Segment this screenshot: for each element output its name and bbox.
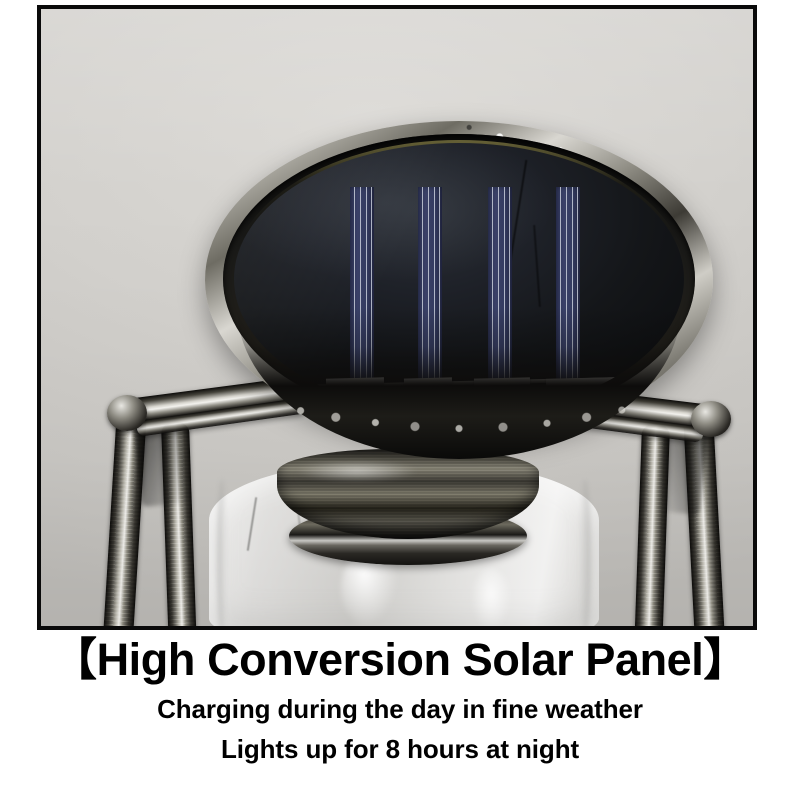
product-photo	[41, 9, 753, 626]
solar-lantern	[41, 9, 753, 626]
caption-line-charging: Charging during the day in fine weather	[0, 690, 800, 728]
product-photo-frame	[37, 5, 757, 630]
caption-block: 【High Conversion Solar Panel】 Charging d…	[0, 634, 800, 768]
glass-edge-left	[217, 479, 227, 626]
lantern-joint-left	[107, 395, 147, 431]
caption-title: 【High Conversion Solar Panel】	[0, 634, 800, 686]
solar-panel-head	[205, 121, 713, 451]
caption-line-runtime: Lights up for 8 hours at night	[0, 730, 800, 768]
product-feature-card: 【High Conversion Solar Panel】 Charging d…	[0, 0, 800, 800]
panel-housing-chipped-paint	[239, 379, 679, 445]
neck-collar-highlight	[297, 461, 417, 481]
glass-edge-right	[579, 479, 591, 626]
glass-highlight-secondary	[471, 569, 511, 626]
